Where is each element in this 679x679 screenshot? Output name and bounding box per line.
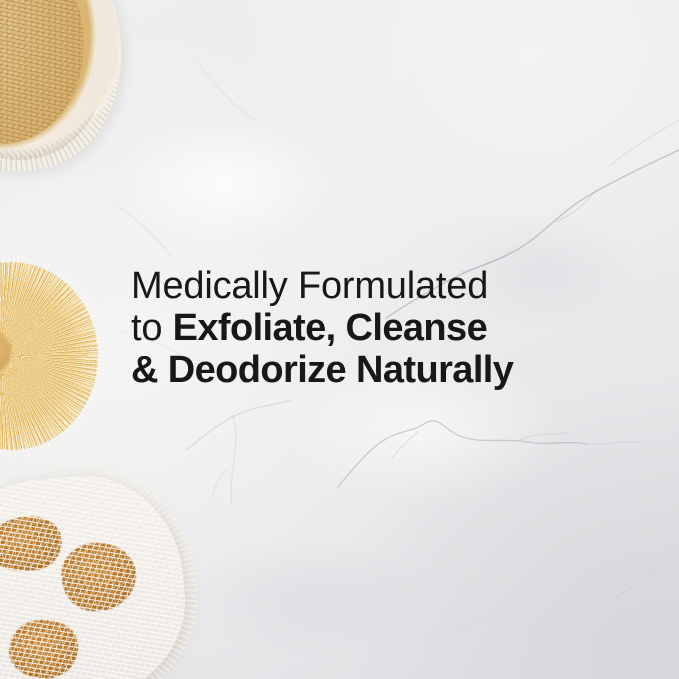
headline-line-3-bold-text: & Deodorize Naturally [131,349,513,391]
loofah-sponge-prop [0,468,193,679]
headline-line-3: & Deodorize Naturally [131,349,601,391]
headline-line-2-bold-text: Exfoliate, Cleanse [173,307,487,349]
headline: Medically Formulated to Exfoliate, Clean… [131,265,601,391]
headline-line-1-text: Medically Formulated [131,265,488,307]
product-lifestyle-banner: Medically Formulated to Exfoliate, Clean… [0,0,679,679]
headline-line-2-light-text: to [131,307,173,349]
headline-line-2: to Exfoliate, Cleanse [131,307,601,349]
headline-line-1: Medically Formulated [131,265,601,307]
bristle-brush-prop [0,262,98,450]
bristle-brush-tips [0,253,107,459]
